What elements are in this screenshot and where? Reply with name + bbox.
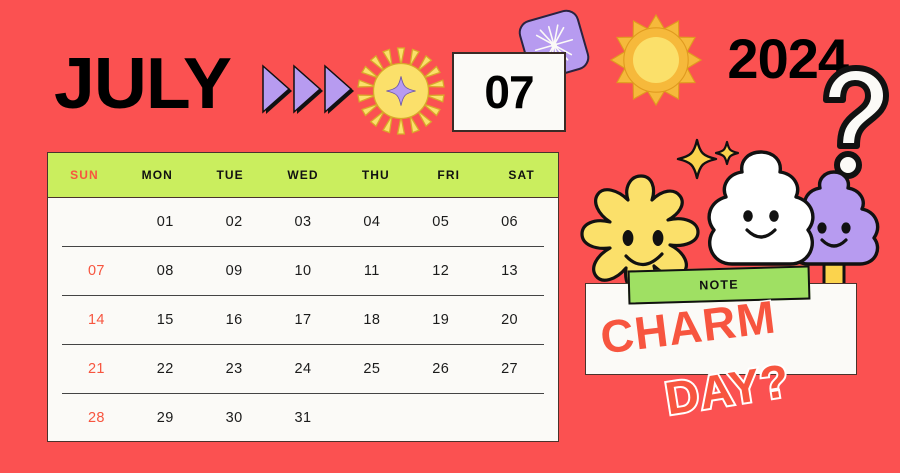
date-cell[interactable]: 21 bbox=[62, 361, 131, 377]
calendar-week-row: 21 22 23 24 25 26 27 bbox=[62, 345, 544, 394]
weekday-sun: SUN bbox=[48, 168, 121, 182]
date-cell[interactable]: 13 bbox=[475, 263, 544, 279]
date-cell[interactable]: 25 bbox=[337, 361, 406, 377]
date-cell[interactable]: 02 bbox=[200, 214, 269, 230]
calendar-week-row: 01 02 03 04 05 06 bbox=[62, 198, 544, 247]
weekday-thu: THU bbox=[339, 168, 412, 182]
month-number: 07 bbox=[484, 65, 533, 119]
calendar-week-row: 07 08 09 10 11 12 13 bbox=[62, 247, 544, 296]
question-mark-icon bbox=[812, 62, 892, 180]
date-cell[interactable]: 18 bbox=[337, 312, 406, 328]
weekday-sat: SAT bbox=[485, 168, 558, 182]
date-cell[interactable]: 27 bbox=[475, 361, 544, 377]
date-cell[interactable]: 19 bbox=[406, 312, 475, 328]
date-cell[interactable]: 05 bbox=[406, 214, 475, 230]
date-cell[interactable]: 26 bbox=[406, 361, 475, 377]
note-tape-text: NOTE bbox=[699, 277, 739, 292]
poster-canvas: JULY bbox=[0, 0, 900, 473]
date-cell[interactable]: 04 bbox=[337, 214, 406, 230]
calendar-weekday-header: SUN MON TUE WED THU FRI SAT bbox=[48, 153, 558, 198]
calendar-week-row: 14 15 16 17 18 19 20 bbox=[62, 296, 544, 345]
weekday-wed: WED bbox=[267, 168, 340, 182]
weekday-tue: TUE bbox=[194, 168, 267, 182]
month-number-card: 07 bbox=[452, 52, 566, 132]
date-cell[interactable]: 03 bbox=[269, 214, 338, 230]
date-cell[interactable]: 09 bbox=[200, 263, 269, 279]
date-cell[interactable]: 07 bbox=[62, 263, 131, 279]
weekday-mon: MON bbox=[121, 168, 194, 182]
sunburst-sparkle-icon bbox=[358, 48, 444, 134]
date-cell[interactable]: 22 bbox=[131, 361, 200, 377]
calendar-week-row: 28 29 30 31 bbox=[62, 394, 544, 442]
date-cell[interactable]: 12 bbox=[406, 263, 475, 279]
date-cell[interactable]: 17 bbox=[269, 312, 338, 328]
date-cell[interactable]: 29 bbox=[131, 410, 200, 426]
calendar-card: SUN MON TUE WED THU FRI SAT 01 02 03 04 … bbox=[47, 152, 559, 442]
date-cell[interactable]: 01 bbox=[131, 214, 200, 230]
date-cell[interactable]: 16 bbox=[200, 312, 269, 328]
weekday-fri: FRI bbox=[412, 168, 485, 182]
date-cell[interactable]: 14 bbox=[62, 312, 131, 328]
date-cell[interactable]: 15 bbox=[131, 312, 200, 328]
calendar-grid: 01 02 03 04 05 06 07 08 09 10 11 12 13 1… bbox=[48, 198, 558, 442]
date-cell[interactable]: 06 bbox=[475, 214, 544, 230]
date-cell[interactable]: 31 bbox=[269, 410, 338, 426]
date-cell[interactable]: 20 bbox=[475, 312, 544, 328]
date-cell[interactable]: 24 bbox=[269, 361, 338, 377]
date-cell[interactable]: 08 bbox=[131, 263, 200, 279]
date-cell[interactable]: 30 bbox=[200, 410, 269, 426]
page-title: JULY bbox=[54, 48, 231, 120]
triple-chevron-right-icon bbox=[262, 62, 354, 120]
sun-icon bbox=[610, 14, 702, 106]
date-cell[interactable]: 28 bbox=[62, 410, 131, 426]
date-cell[interactable]: 23 bbox=[200, 361, 269, 377]
date-cell[interactable]: 10 bbox=[269, 263, 338, 279]
date-cell[interactable]: 11 bbox=[337, 263, 406, 279]
